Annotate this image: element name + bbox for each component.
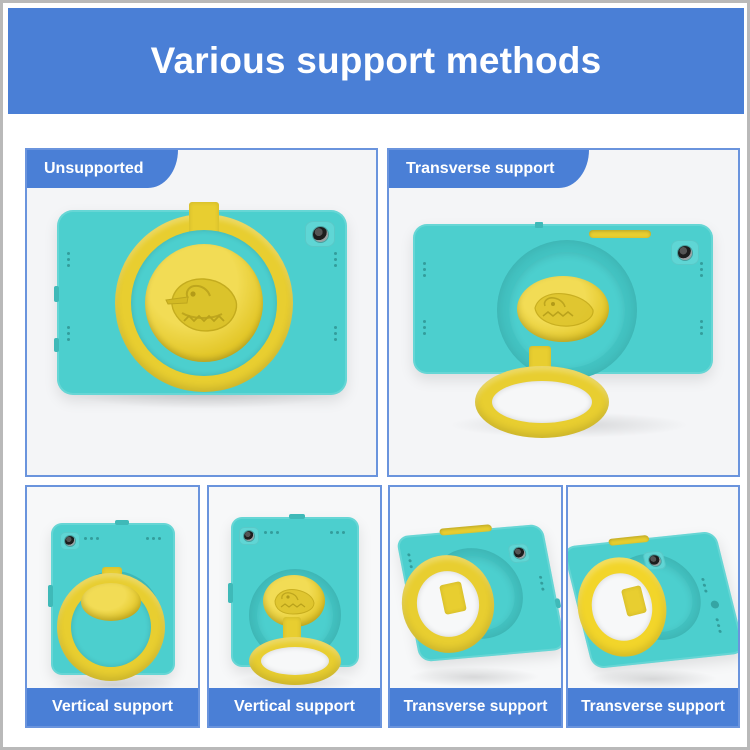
top-notch bbox=[289, 514, 305, 519]
eagle-icon bbox=[527, 288, 599, 332]
tablet-case-body bbox=[413, 224, 713, 374]
panels-grid: Unsupported bbox=[8, 121, 748, 748]
eagle-icon bbox=[270, 585, 318, 619]
ring-stand-hole bbox=[261, 647, 329, 675]
header-banner: Various support methods bbox=[8, 8, 744, 114]
speaker-dots-top-left bbox=[264, 531, 279, 534]
speaker-dots-top-left bbox=[84, 537, 99, 540]
side-button-volume bbox=[228, 583, 233, 603]
panel-unsupported: Unsupported bbox=[25, 148, 378, 477]
stylus-slot bbox=[439, 524, 492, 535]
panel-vertical-support-2: Vertical support bbox=[207, 485, 382, 728]
speaker-dots-top-right bbox=[146, 537, 161, 540]
camera-housing bbox=[60, 532, 80, 550]
eagle-medallion bbox=[517, 276, 609, 342]
speaker-dots-left-top bbox=[67, 252, 70, 267]
top-notch bbox=[115, 520, 129, 525]
port-hole bbox=[710, 600, 720, 609]
speaker-dots-top-right bbox=[330, 531, 345, 534]
panel-transverse-support-4: Transverse support bbox=[566, 485, 740, 728]
camera-lens-icon bbox=[648, 555, 662, 567]
speaker-dots-left-bottom bbox=[67, 326, 70, 341]
speaker-dots-right-bottom bbox=[334, 326, 337, 341]
panel-label-vertical-2: Vertical support bbox=[209, 688, 380, 726]
speaker-dots-right bbox=[701, 578, 708, 593]
speaker-dots-right bbox=[539, 576, 545, 591]
panel-label-transverse-3: Transverse support bbox=[390, 688, 561, 726]
camera-lens-icon bbox=[678, 246, 692, 260]
drop-shadow bbox=[588, 669, 718, 689]
panel-transverse-support-3: Transverse support bbox=[388, 485, 563, 728]
panel-label-vertical-1: Vertical support bbox=[27, 688, 198, 726]
speaker-dots-right-top bbox=[700, 262, 703, 277]
panel-label-transverse-4: Transverse support bbox=[568, 688, 738, 726]
product-illustration-unsupported bbox=[27, 150, 376, 475]
page-title: Various support methods bbox=[151, 40, 602, 82]
camera-lens-icon bbox=[313, 227, 328, 242]
side-button-volume bbox=[54, 286, 59, 302]
speaker-dots-right-top bbox=[334, 252, 337, 267]
speaker-dots-left-top bbox=[423, 262, 426, 277]
eagle-medallion-front bbox=[81, 583, 141, 621]
eagle-icon bbox=[158, 267, 250, 343]
stylus-slot bbox=[608, 535, 650, 546]
speaker-dots-left-bottom bbox=[423, 320, 426, 335]
speaker-dots-left bbox=[407, 553, 413, 568]
camera-housing bbox=[305, 221, 335, 247]
top-notch bbox=[535, 222, 543, 228]
panel-label-transverse: Transverse support bbox=[389, 150, 589, 188]
eagle-medallion bbox=[145, 244, 263, 362]
product-infographic: Various support methods Unsupported bbox=[0, 0, 750, 750]
speaker-dots-right-bottom bbox=[700, 320, 703, 335]
speaker-dots-right-lower bbox=[715, 618, 722, 633]
camera-lens-icon bbox=[513, 547, 526, 559]
side-button-volume bbox=[48, 585, 53, 607]
camera-lens-icon bbox=[65, 536, 75, 546]
camera-housing bbox=[671, 240, 699, 265]
camera-housing bbox=[507, 543, 531, 563]
drop-shadow bbox=[408, 667, 540, 687]
side-button-power bbox=[554, 598, 561, 608]
camera-lens-icon bbox=[244, 531, 254, 541]
side-button-power bbox=[54, 338, 59, 352]
panel-label-unsupported: Unsupported bbox=[27, 150, 178, 188]
camera-housing bbox=[239, 527, 259, 545]
tablet-case-body bbox=[57, 210, 347, 395]
product-illustration-transverse bbox=[389, 150, 738, 475]
panel-transverse-support-main: Transverse support bbox=[387, 148, 740, 477]
panel-vertical-support-1: Vertical support bbox=[25, 485, 200, 728]
stylus-slot bbox=[589, 230, 651, 238]
ring-stand-hole bbox=[492, 381, 592, 423]
